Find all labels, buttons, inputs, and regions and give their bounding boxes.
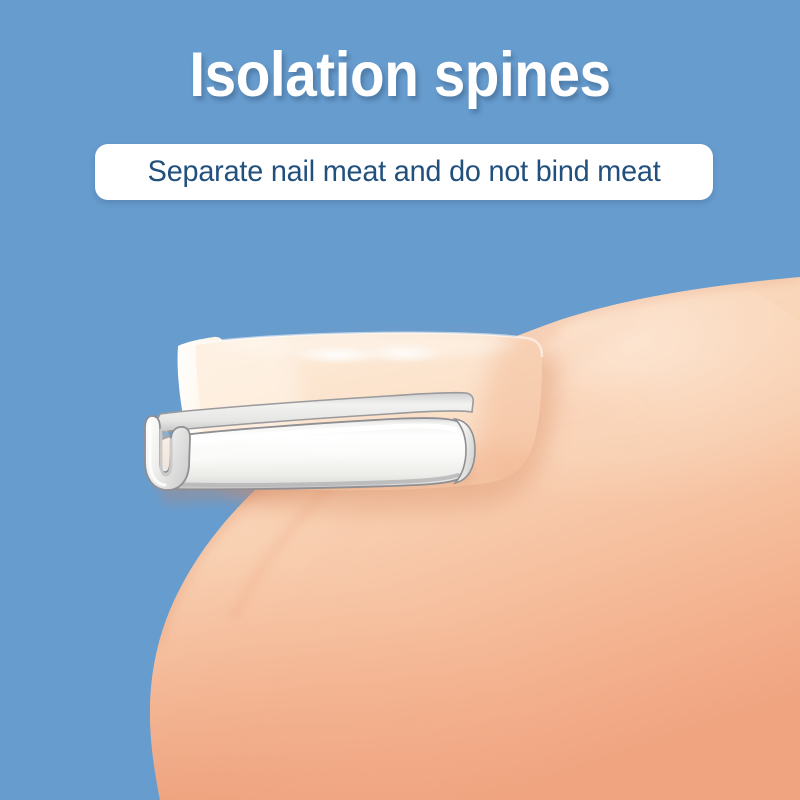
subtitle-banner: Separate nail meat and do not bind meat xyxy=(95,144,713,200)
page-title: Isolation spines xyxy=(40,38,760,112)
poster-canvas: Isolation spines Separate nail meat and … xyxy=(0,0,800,800)
subtitle-text: Separate nail meat and do not bind meat xyxy=(148,155,661,189)
finger-illustration xyxy=(0,0,800,800)
